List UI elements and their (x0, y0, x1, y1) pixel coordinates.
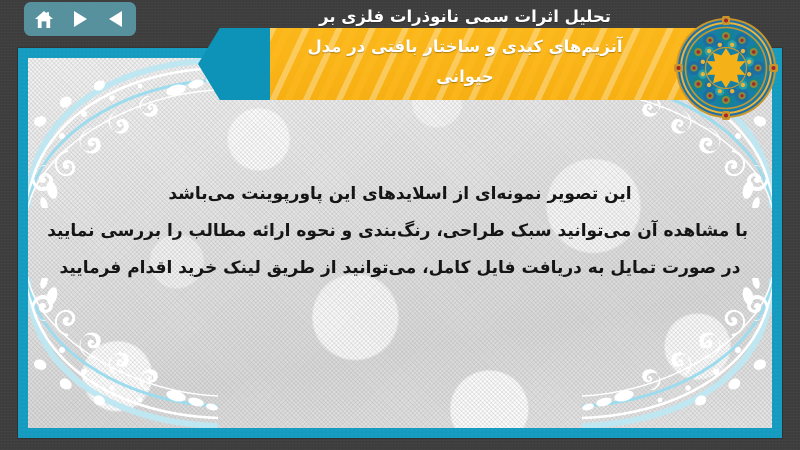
slide-frame-card: این تصویر نمونه‌ای از اسلایدهای این پاور… (18, 48, 782, 438)
slide-body-text: این تصویر نمونه‌ای از اسلایدهای این پاور… (52, 176, 748, 287)
next-slide-button[interactable] (69, 8, 91, 30)
home-icon (34, 10, 54, 29)
home-button[interactable] (33, 8, 55, 30)
previous-slide-button[interactable] (105, 8, 127, 30)
title-banner (270, 28, 730, 100)
triangle-left-icon (108, 10, 124, 28)
slide-canvas: این تصویر نمونه‌ای از اسلایدهای این پاور… (0, 0, 800, 450)
persian-medallion-icon (674, 16, 778, 120)
slide-navigation-bar[interactable] (24, 2, 136, 36)
body-line-3: در صورت تمایل به دریافت فایل کامل، می‌تو… (52, 250, 748, 287)
triangle-right-icon (72, 10, 88, 28)
body-line-1: این تصویر نمونه‌ای از اسلایدهای این پاور… (52, 176, 748, 213)
body-line-2: با مشاهده آن می‌توانید سبک طراحی، رنگ‌بن… (52, 213, 748, 250)
